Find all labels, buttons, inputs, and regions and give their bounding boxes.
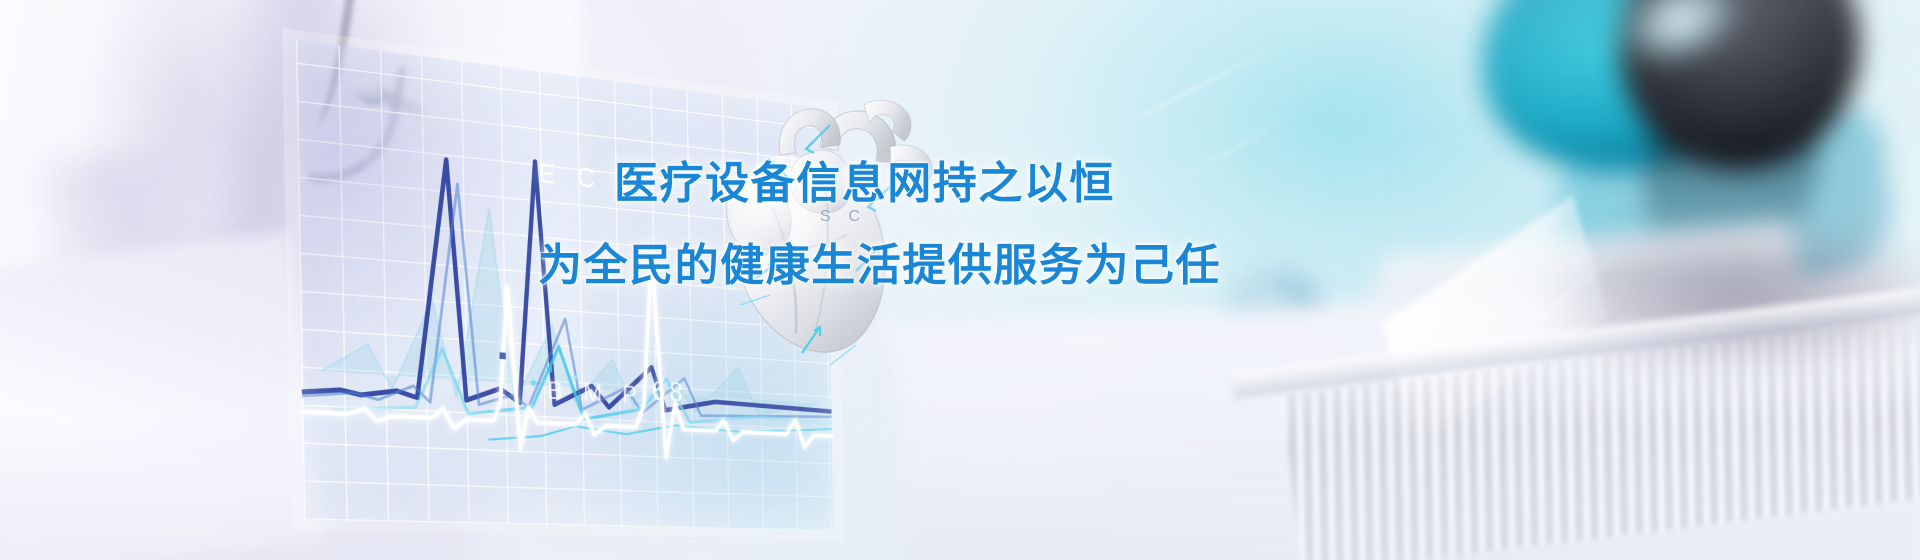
sc-watermark: S C <box>820 208 867 226</box>
headline-block: 医疗设备信息网持之以恒 为全民的健康生活提供服务为己任 <box>600 162 1780 288</box>
headline-line-1: 医疗设备信息网持之以恒 <box>614 162 1780 206</box>
headline-line-2: 为全民的健康生活提供服务为己任 <box>538 244 1780 288</box>
medical-banner: E C G B M P 68 <box>0 0 1920 560</box>
bmp-label: B M P <box>547 376 644 410</box>
